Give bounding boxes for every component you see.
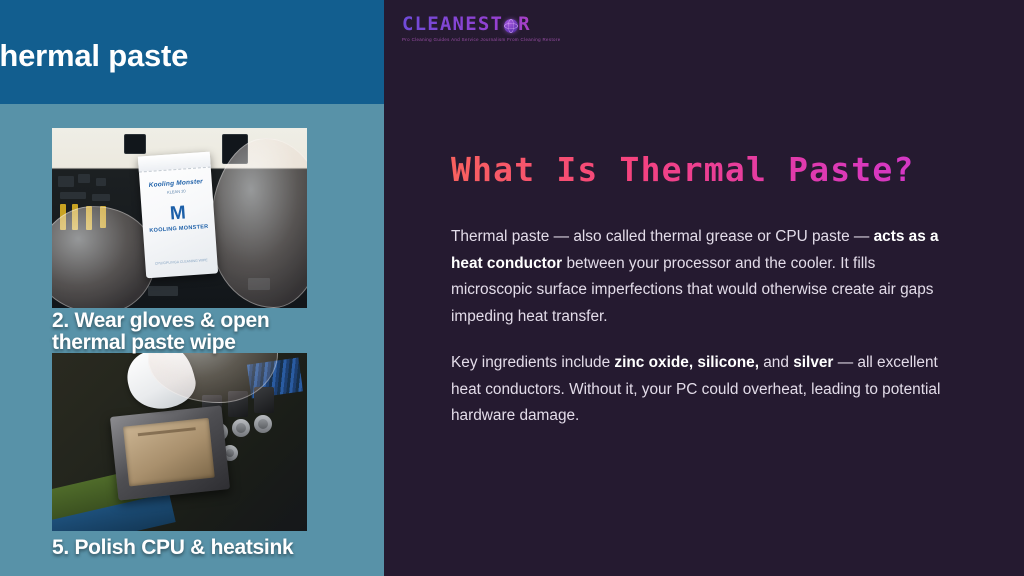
emphasis-run-2-2: zinc oxide, silicone, <box>614 354 759 371</box>
photo-frame-wipe-packet: Kooling Monster KLEAN 20 M KOOLING MONST… <box>52 128 307 308</box>
text-run-2-3: and <box>759 354 793 371</box>
capacitor-3 <box>254 415 272 433</box>
cpu-socket <box>110 405 230 500</box>
logo-text-before: CLEANEST <box>402 14 503 35</box>
photo-caption-step-5: 5. Polish CPU & heatsink <box>52 537 342 559</box>
body-copy: Thermal paste — also called thermal grea… <box>451 224 947 430</box>
body-paragraph-2: Key ingredients include zinc oxide, sili… <box>451 350 947 430</box>
thermal-paste-wipe-packet: Kooling Monster KLEAN 20 M KOOLING MONST… <box>138 152 218 279</box>
left-article-panel: ove thermal paste <box>0 0 384 576</box>
cleanestor-logo[interactable]: CLEANEST R Pro Cleaning Guides And Servi… <box>402 14 662 42</box>
article-title: ove thermal paste <box>0 38 384 74</box>
emphasis-run-2-4: silver <box>793 354 833 371</box>
page-title: What Is Thermal Paste? <box>451 150 991 189</box>
photo-frame-cpu-polish <box>52 353 307 531</box>
capacitor-2 <box>232 419 250 437</box>
slide-root: ove thermal paste <box>0 0 1024 576</box>
photo-card-step-5 <box>52 353 307 531</box>
packet-logo-mark: M <box>164 203 191 225</box>
text-run-1-1: Thermal paste — also called thermal grea… <box>451 228 874 245</box>
logo-tagline: Pro Cleaning Guides And Service Journali… <box>402 37 662 42</box>
text-run-2-1: Key ingredients include <box>451 354 614 371</box>
right-content-panel: CLEANEST R Pro Cleaning Guides And Servi… <box>384 0 1024 576</box>
cpu-marking <box>138 427 196 436</box>
photo-caption-step-2: 2. Wear gloves & open thermal paste wipe <box>52 310 342 354</box>
article-header-band: ove thermal paste <box>0 0 384 104</box>
photo-card-step-2: Kooling Monster KLEAN 20 M KOOLING MONST… <box>52 128 307 308</box>
body-paragraph-1: Thermal paste — also called thermal grea… <box>451 224 947 331</box>
globe-icon <box>504 19 518 33</box>
cpu-die <box>123 418 215 487</box>
packet-brand-name: KOOLING MONSTER <box>143 223 215 235</box>
packet-footnote: CPU/GPU/VGA CLEANING WIPE <box>145 257 217 266</box>
logo-text-after: R <box>518 14 531 35</box>
logo-wordmark: CLEANEST R <box>402 14 662 35</box>
